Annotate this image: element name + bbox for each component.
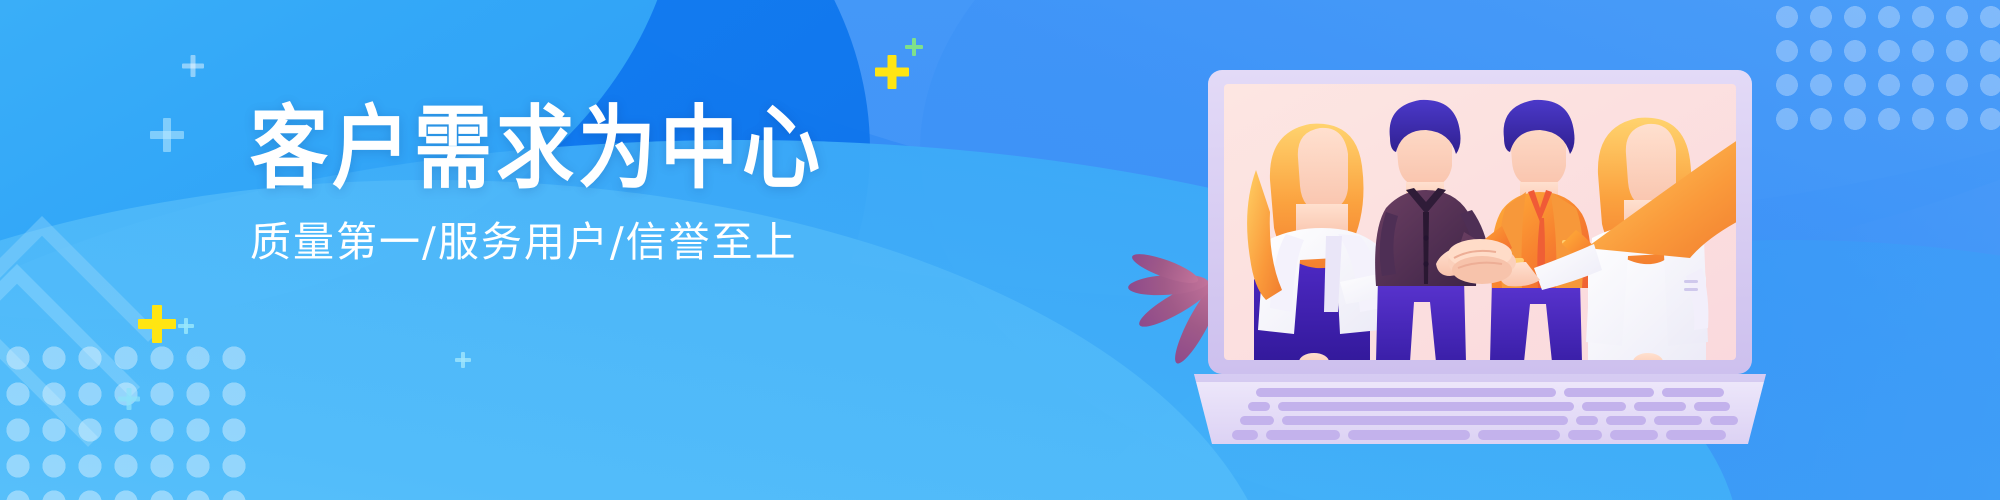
plus-icon-cyan-tiny	[178, 318, 194, 334]
dot-grid-top-right	[1770, 0, 2000, 130]
plus-icon-cyan-middle	[455, 352, 471, 368]
laptop-teamwork-illustration	[1190, 62, 1770, 452]
plus-icon-yellow-top-right	[875, 55, 909, 89]
plus-icon-green-top-right	[905, 38, 923, 56]
plus-icon-white-medium	[150, 118, 184, 152]
plus-icon-white-small	[182, 55, 204, 77]
page-subtitle: 质量第一/服务用户/信誉至上	[250, 222, 870, 263]
laptop-hinge	[1194, 374, 1766, 382]
headline-block: 客户需求为中心 质量第一/服务用户/信誉至上	[250, 104, 870, 263]
page-title: 客户需求为中心	[250, 104, 870, 194]
promo-banner: 客户需求为中心 质量第一/服务用户/信誉至上	[0, 0, 2000, 500]
stacked-hands	[1448, 239, 1516, 284]
